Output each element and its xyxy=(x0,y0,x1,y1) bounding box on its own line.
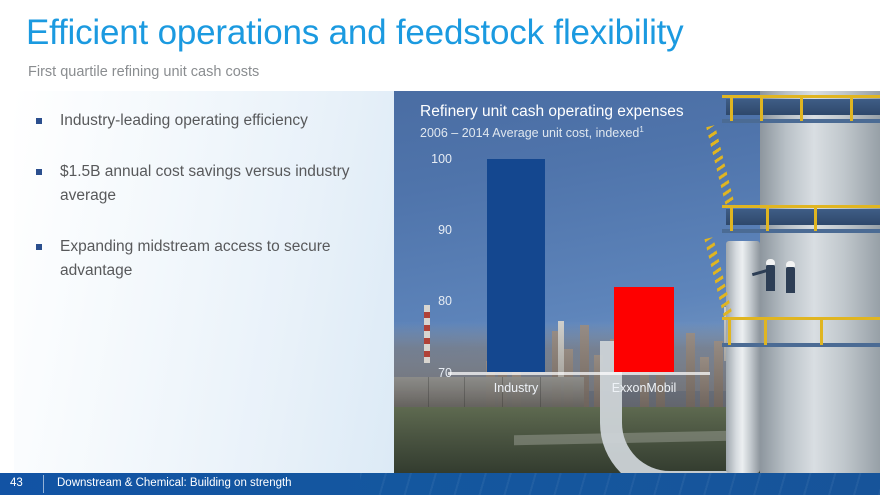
footer-bar: 43 Downstream & Chemical: Building on st… xyxy=(0,473,880,495)
bullet-list: Industry-leading operating efficiency $1… xyxy=(36,109,376,310)
bullet-square-icon xyxy=(36,244,42,250)
bullet-square-icon xyxy=(36,118,42,124)
footer-decoration xyxy=(360,473,880,495)
x-axis-line xyxy=(448,372,710,375)
bar-industry xyxy=(487,159,545,372)
bullet-text: $1.5B annual cost savings versus industr… xyxy=(60,160,360,208)
y-tick-label: 90 xyxy=(408,223,452,237)
page-number: 43 xyxy=(10,477,23,489)
bar-chart: Refinery unit cash operating expenses 20… xyxy=(394,91,880,473)
chart-subtitle-text: 2006 – 2014 Average unit cost, indexed xyxy=(420,126,639,140)
chart-title: Refinery unit cash operating expenses xyxy=(420,103,684,121)
chart-subtitle-marker: 1 xyxy=(639,125,643,134)
plot-area: 100 90 80 70 Industry ExxonMobil xyxy=(394,147,880,437)
category-label-industry: Industry xyxy=(494,381,538,395)
y-tick-label: 100 xyxy=(408,152,452,166)
chart-subtitle: 2006 – 2014 Average unit cost, indexed1 xyxy=(420,125,644,140)
y-tick-label: 80 xyxy=(408,294,452,308)
footer-title: Downstream & Chemical: Building on stren… xyxy=(57,477,292,489)
y-tick-label: 70 xyxy=(408,366,452,380)
bar-exxonmobil xyxy=(614,287,674,372)
bullet-text: Industry-leading operating efficiency xyxy=(60,109,308,133)
list-item: Industry-leading operating efficiency xyxy=(36,109,376,133)
refinery-photo-panel: Refinery unit cash operating expenses 20… xyxy=(394,91,880,473)
left-content-panel: Industry-leading operating efficiency $1… xyxy=(14,91,394,473)
slide-root: Efficient operations and feedstock flexi… xyxy=(0,0,880,495)
bullet-square-icon xyxy=(36,169,42,175)
page-title: Efficient operations and feedstock flexi… xyxy=(26,12,683,54)
list-item: $1.5B annual cost savings versus industr… xyxy=(36,160,376,208)
footer-divider xyxy=(43,475,44,493)
category-label-exxonmobil: ExxonMobil xyxy=(612,381,677,395)
list-item: Expanding midstream access to secure adv… xyxy=(36,235,376,283)
page-subtitle: First quartile refining unit cash costs xyxy=(28,64,259,80)
bullet-text: Expanding midstream access to secure adv… xyxy=(60,235,360,283)
